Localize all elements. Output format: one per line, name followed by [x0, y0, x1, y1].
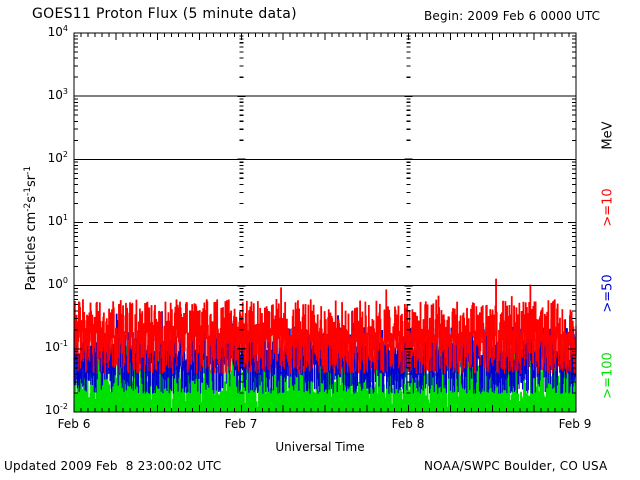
- data-traces: [74, 279, 576, 412]
- gridlines: [74, 96, 576, 286]
- plot-area: [0, 0, 640, 480]
- proton-flux-chart: GOES11 Proton Flux (5 minute data) Begin…: [0, 0, 640, 480]
